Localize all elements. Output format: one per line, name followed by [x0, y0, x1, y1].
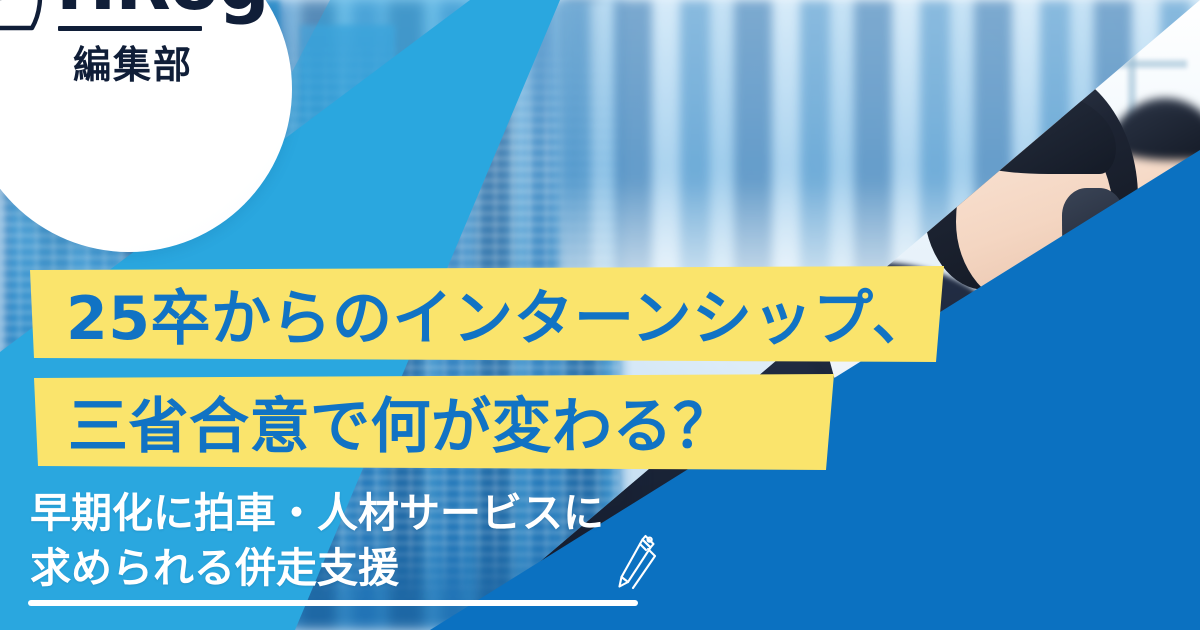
- subtitle-line2: 求められる併走支援: [30, 541, 650, 596]
- logo-wordmark: HRog: [56, 0, 269, 20]
- title-band-line2: 三省合意で何が変わる？: [34, 374, 834, 470]
- logo-division-label: 編集部: [58, 34, 208, 89]
- frog-icon: [0, 0, 62, 32]
- logo-content: フロッグ HRog 編集部: [0, 0, 244, 106]
- logo-divider: [58, 26, 202, 31]
- title-line1-text: 25卒からのインターンシップ、: [66, 270, 932, 357]
- subtitle-line1: 早期化に拍車・人材サービスに: [30, 486, 650, 541]
- title-line2-text: 三省合意で何が変わる？: [68, 378, 734, 465]
- pen-icon: [612, 533, 658, 595]
- subtitle-underline: [28, 600, 638, 606]
- subtitle-block: 早期化に拍車・人材サービスに 求められる併走支援: [30, 486, 650, 595]
- article-hero-banner: フロッグ HRog 編集部 25卒からのインターンシップ、 三省合意で何が変わる…: [0, 0, 1200, 630]
- title-band-line1: 25卒からのインターンシップ、: [30, 266, 944, 362]
